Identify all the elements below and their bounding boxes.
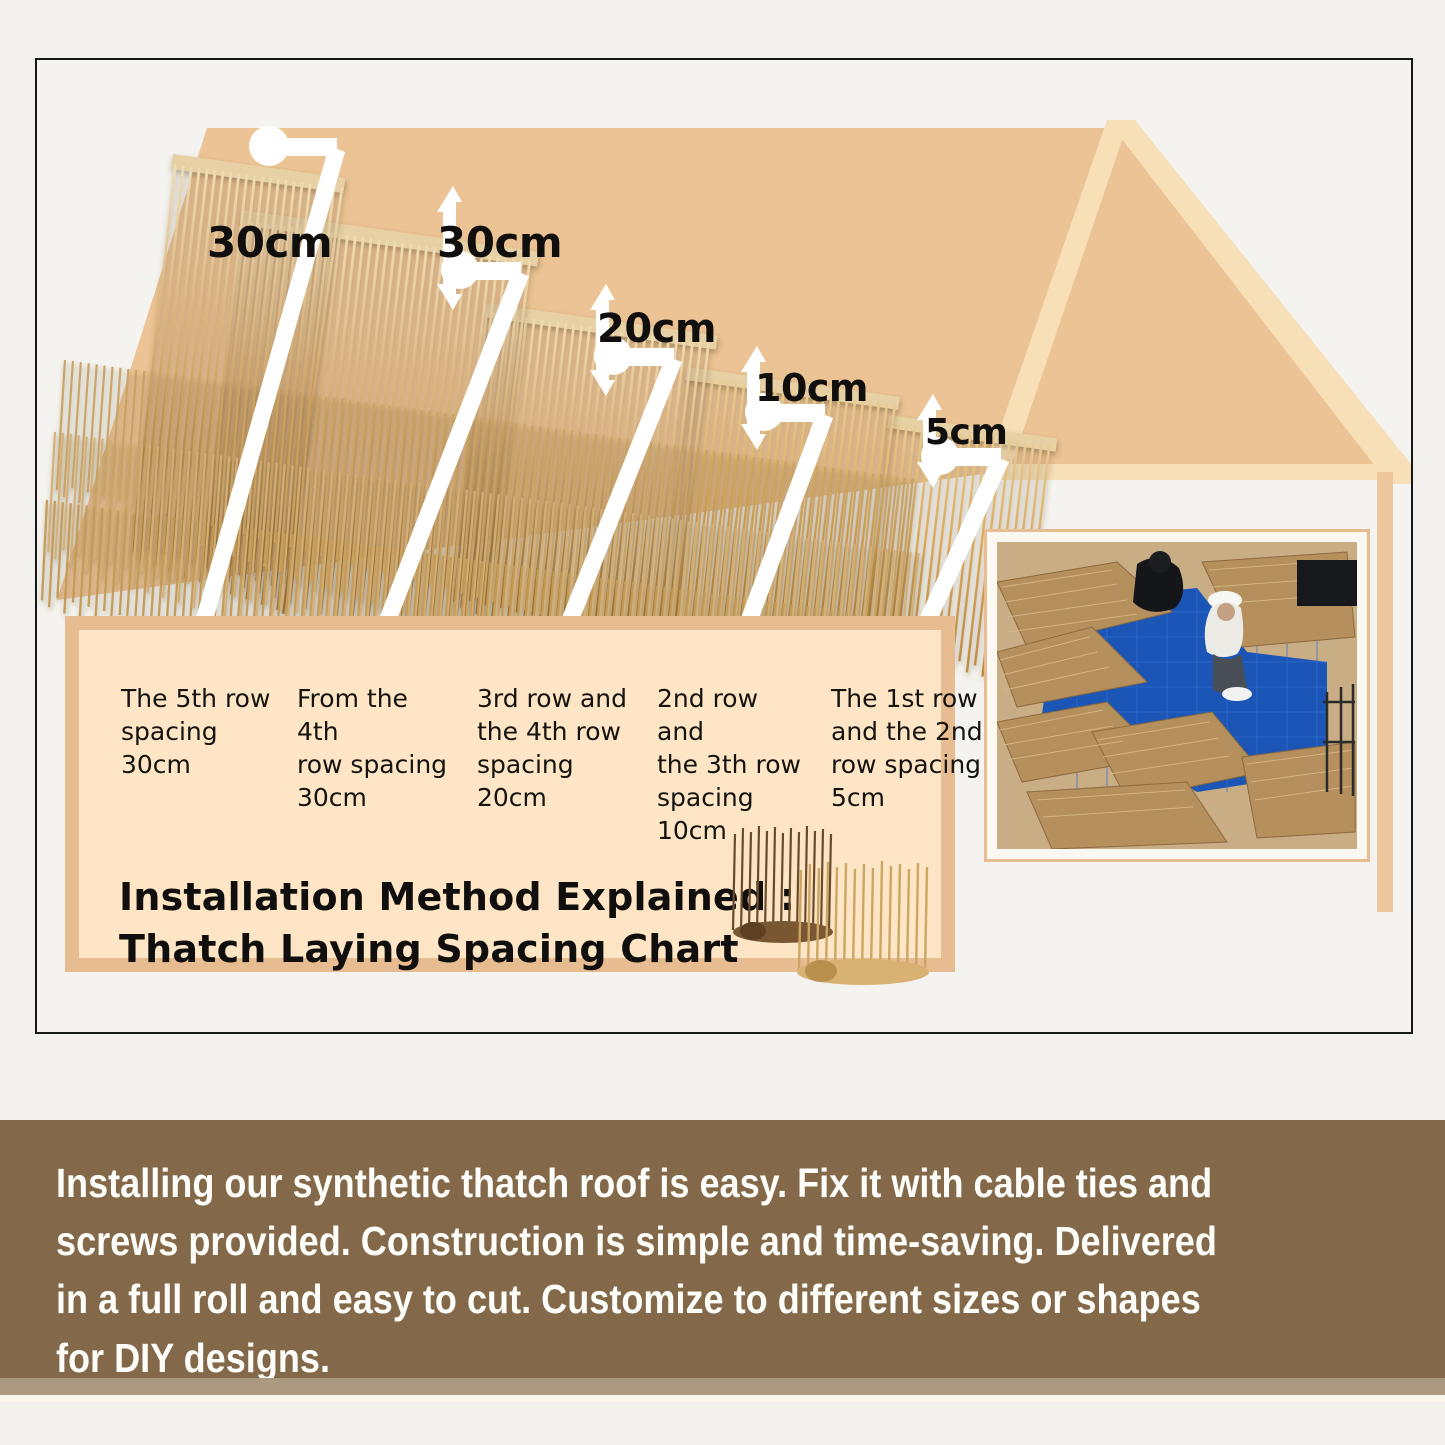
dimension-label-10cm-row4: 10cm — [755, 366, 868, 410]
dimension-label-20cm-row3: 20cm — [597, 306, 716, 352]
page-title: Installation Method Explained : Thatch L… — [119, 872, 795, 975]
callout-4-line-1: 2nd row and — [657, 682, 809, 748]
callout-3-line-1: 3rd row and — [477, 682, 629, 715]
banner-accent-strip — [0, 1378, 1445, 1395]
page-title-line-2: Thatch Laying Spacing Chart — [119, 924, 795, 976]
callout-1-line-1: The 5th row — [121, 682, 273, 715]
callout-text-1: The 5th row spacing 30cm — [121, 682, 273, 781]
callout-2-line-2: row spacing — [297, 748, 449, 781]
callout-3-line-4: 20cm — [477, 781, 629, 814]
callout-2-line-1: From the 4th — [297, 682, 449, 748]
callout-5-line-2: and the 2nd — [831, 715, 983, 748]
callout-1-line-3: 30cm — [121, 748, 273, 781]
thatch-roll-light-image — [791, 852, 941, 992]
callout-4-line-3: spacing — [657, 781, 809, 814]
callout-4-line-2: the 3th row — [657, 748, 809, 781]
page-title-line-1: Installation Method Explained : — [119, 872, 795, 924]
dimension-label-30cm-row2: 30cm — [437, 218, 562, 267]
callout-text-3: 3rd row and the 4th row spacing 20cm — [477, 682, 629, 814]
dimension-label-5cm-row5: 5cm — [925, 412, 1007, 453]
caption-panel: The 5th row spacing 30cm From the 4th ro… — [65, 616, 955, 972]
installation-photo — [987, 532, 1367, 859]
callout-3-line-3: spacing — [477, 748, 629, 781]
diagram-card: 30cm 30cm 20cm 10cm 5cm 1 2 3 4 5 The 5t… — [35, 58, 1413, 1034]
callout-1-line-2: spacing — [121, 715, 273, 748]
banner-description-text: Installing our synthetic thatch roof is … — [56, 1154, 1226, 1387]
callout-5-line-4: 5cm — [831, 781, 983, 814]
callout-text-5: The 1st row and the 2nd row spacing 5cm — [831, 682, 983, 814]
callout-5-line-1: The 1st row — [831, 682, 983, 715]
callout-5-line-3: row spacing — [831, 748, 983, 781]
callout-text-2: From the 4th row spacing 30cm — [297, 682, 449, 814]
banner-accent-strip-light — [0, 1395, 1445, 1402]
callout-2-line-3: 30cm — [297, 781, 449, 814]
bottom-description-banner: Installing our synthetic thatch roof is … — [0, 1120, 1445, 1378]
callout-3-line-2: the 4th row — [477, 715, 629, 748]
dimension-label-30cm-row1: 30cm — [207, 218, 332, 267]
